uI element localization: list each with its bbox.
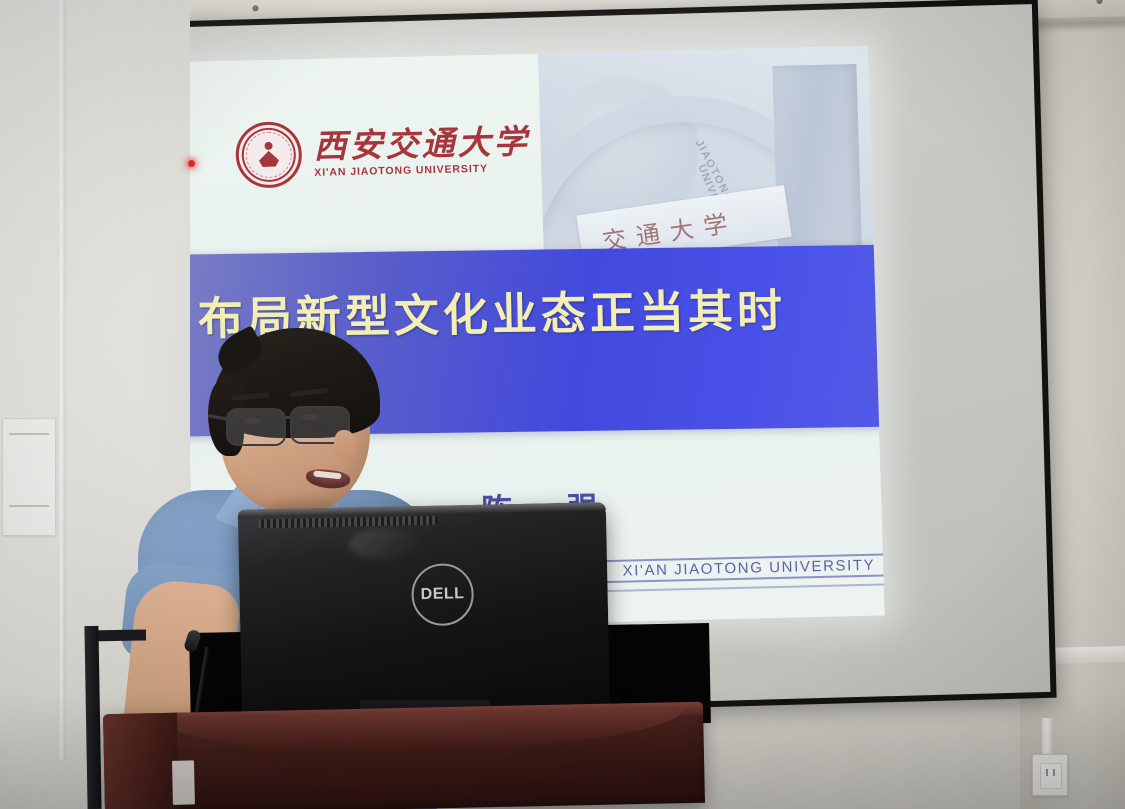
dell-logo-icon: DELL	[411, 563, 474, 626]
wall-placard	[2, 418, 56, 536]
logo-text-block: 西安交通大学 XI'AN JIAOTONG UNIVERSITY	[313, 124, 530, 178]
dell-monitor: DELL	[238, 502, 610, 725]
outlet-socket	[1040, 763, 1062, 789]
monitor-highlight	[348, 528, 419, 559]
podium-side-panel	[103, 713, 179, 809]
seal-core	[255, 142, 282, 169]
wooden-podium	[103, 702, 705, 809]
lens-left	[226, 408, 286, 446]
nose	[334, 430, 356, 460]
outlet-conduit	[1042, 718, 1053, 758]
housing-screw	[1096, 0, 1102, 4]
podium-label	[172, 760, 195, 804]
university-logo: 西安交通大学 XI'AN JIAOTONG UNIVERSITY	[235, 116, 531, 189]
dell-wordmark: DELL	[421, 585, 465, 604]
power-led-indicator	[188, 160, 195, 167]
xjtu-seal-icon	[235, 121, 303, 189]
wall-pillar	[60, 0, 66, 760]
glasses-bridge	[282, 416, 292, 419]
wall-outlet[interactable]	[1032, 754, 1068, 796]
logo-chinese-name: 西安交通大学	[313, 124, 530, 162]
housing-screw	[252, 5, 258, 11]
lecture-photo-scene: JIAOTONG UNIVERSITY 交通大学 西安交通大学 XI'AN JI…	[0, 0, 1125, 809]
monitor-vent	[258, 516, 438, 529]
